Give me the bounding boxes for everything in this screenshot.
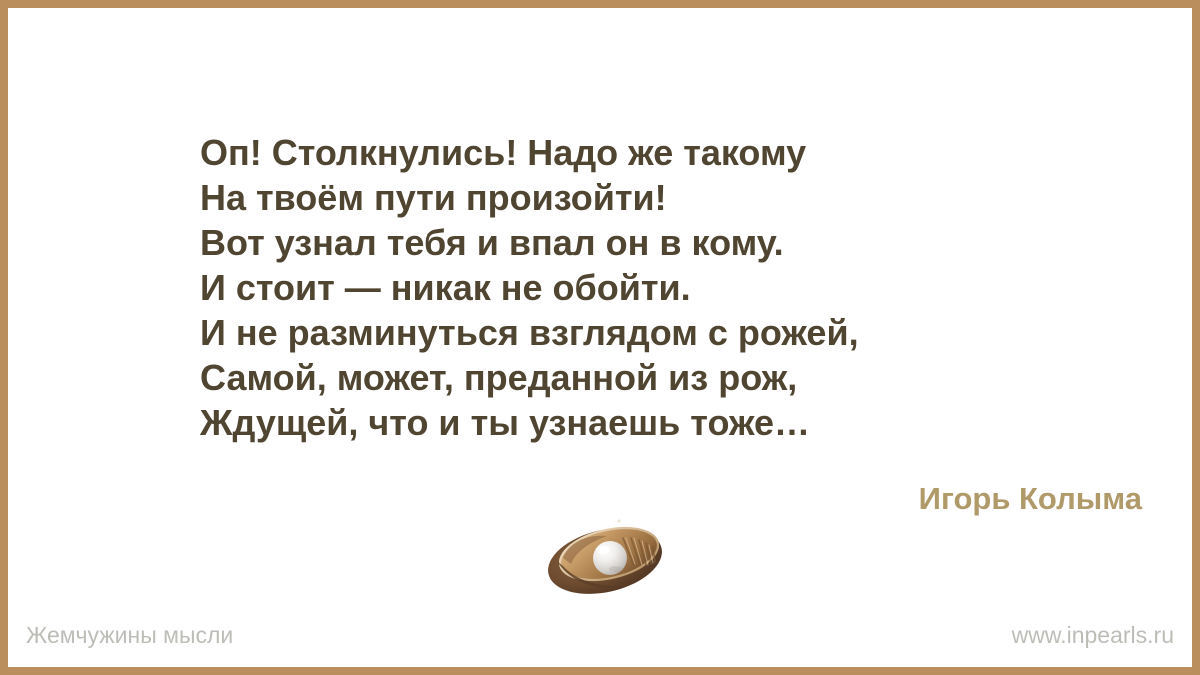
- poem-line: Самой, может, преданной из рож,: [200, 355, 1080, 400]
- author-name: Игорь Колыма: [919, 481, 1142, 517]
- poem-line: И стоит — никак не обойти.: [200, 265, 1080, 310]
- footer: Жемчужины мысли www.inpearls.ru: [8, 615, 1192, 655]
- poem-line: И не разминуться взглядом с рожей,: [200, 310, 1080, 355]
- oyster-shell-with-pearl-icon: [541, 514, 673, 596]
- poem-line: Оп! Столкнулись! Надо же такому: [200, 130, 1080, 175]
- poem-text: Оп! Столкнулись! Надо же такому На твоём…: [200, 130, 1080, 445]
- footer-site-link[interactable]: www.inpearls.ru: [1012, 622, 1174, 649]
- poem-line: Ждущей, что и ты узнаешь тоже…: [200, 400, 1080, 445]
- footer-brand: Жемчужины мысли: [26, 622, 233, 649]
- poem-line: Вот узнал тебя и впал он в кому.: [200, 220, 1080, 265]
- quote-card: Оп! Столкнулись! Надо же такому На твоём…: [0, 0, 1200, 675]
- poem-line: На твоём пути произойти!: [200, 175, 1080, 220]
